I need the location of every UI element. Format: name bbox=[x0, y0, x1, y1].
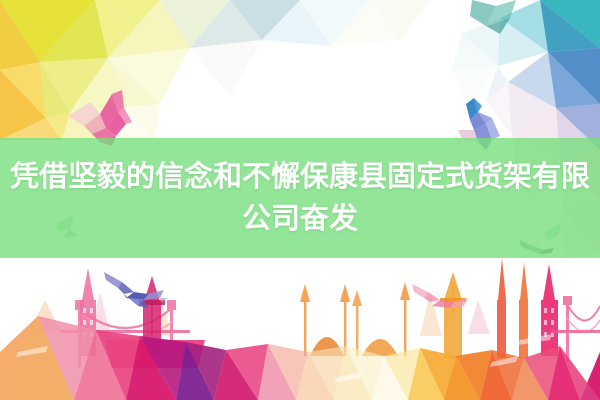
banner-image: 凭借坚毅的信念和不懈保康县固定式货架有限公司奋发 bbox=[0, 0, 600, 400]
text-band: 凭借坚毅的信念和不懈保康县固定式货架有限公司奋发 bbox=[0, 138, 600, 258]
skyline-group bbox=[0, 258, 600, 400]
banner-headline: 凭借坚毅的信念和不懈保康县固定式货架有限公司奋发 bbox=[6, 156, 594, 240]
